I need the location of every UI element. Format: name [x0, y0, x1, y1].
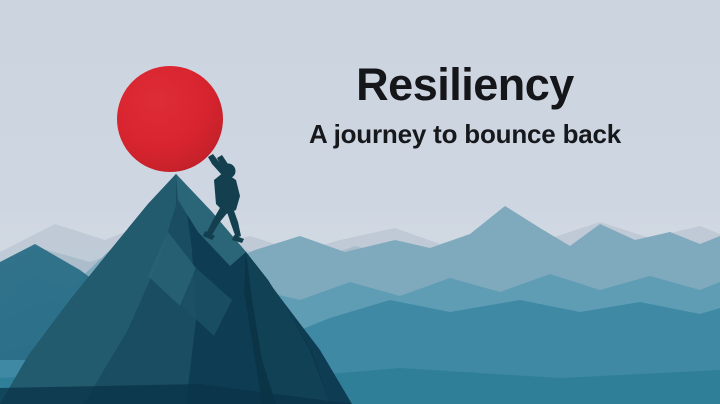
page-title: Resiliency — [270, 62, 660, 107]
title-text-block: Resiliency A journey to bounce back — [270, 62, 660, 148]
red-ball — [117, 66, 223, 172]
title-slide: Resiliency A journey to bounce back — [0, 0, 720, 404]
page-subtitle: A journey to bounce back — [270, 121, 660, 148]
